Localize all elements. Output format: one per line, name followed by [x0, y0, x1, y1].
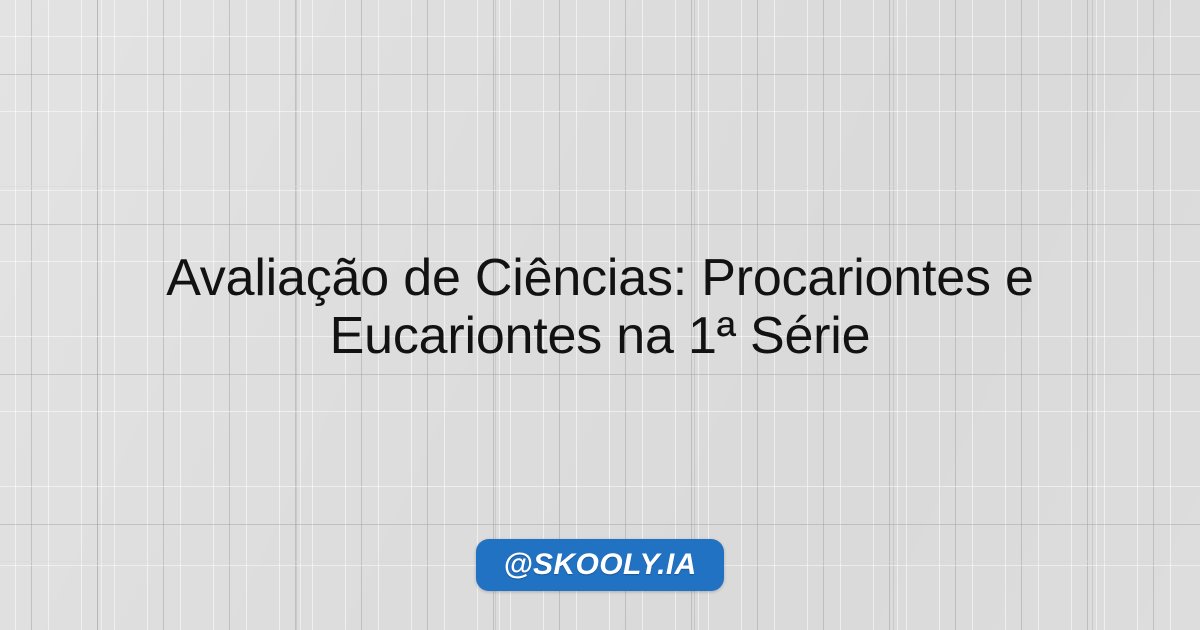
brand-badge-label: @SKOOLY.IA — [503, 550, 696, 580]
brand-badge[interactable]: @SKOOLY.IA — [476, 539, 723, 591]
page-title-line-1: Avaliação de Ciências: Procariontes e — [20, 249, 1180, 307]
page-title: Avaliação de Ciências: Procariontes e Eu… — [0, 249, 1200, 365]
brand-badge-container: @SKOOLY.IA — [0, 539, 1200, 591]
share-card: Avaliação de Ciências: Procariontes e Eu… — [0, 0, 1200, 630]
page-title-line-2: Eucariontes na 1ª Série — [20, 307, 1180, 365]
